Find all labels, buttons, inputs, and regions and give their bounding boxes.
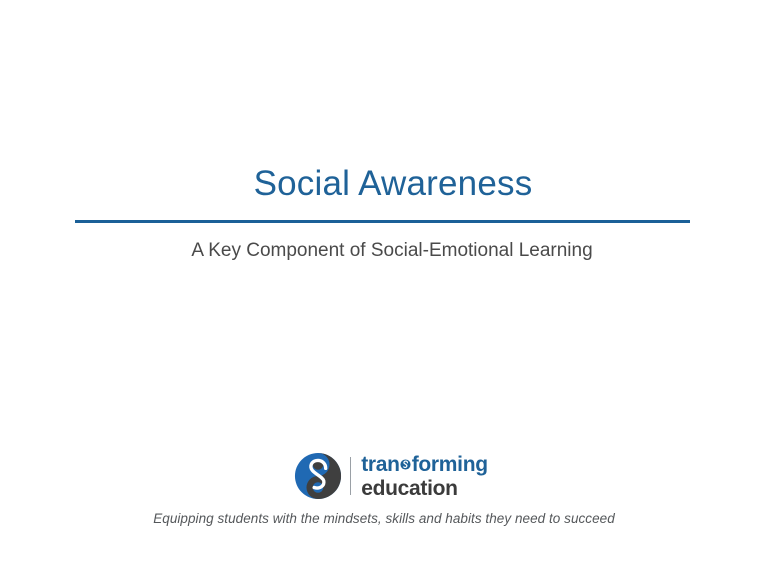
page-subtitle: A Key Component of Social-Emotional Lear… — [0, 238, 768, 264]
logo-stylized-s-icon — [400, 459, 411, 470]
title-block: Social Awareness — [0, 163, 768, 205]
logo-wordmark: tran forming education — [361, 454, 488, 499]
logo-block: tran forming education — [0, 452, 768, 500]
tagline-block: Equipping students with the mindsets, sk… — [0, 511, 768, 526]
title-divider-rule — [75, 220, 690, 223]
transforming-education-logo-icon — [294, 452, 342, 500]
logo-lockup: tran forming education — [280, 452, 488, 500]
logo-wordmark-prefix: tran — [361, 454, 399, 475]
logo-wordmark-suffix: forming — [412, 454, 488, 475]
logo-divider — [350, 457, 351, 495]
title-slide: Social Awareness A Key Component of Soci… — [0, 0, 768, 576]
page-title: Social Awareness — [0, 163, 768, 205]
organization-tagline: Equipping students with the mindsets, sk… — [0, 511, 768, 526]
subtitle-block: A Key Component of Social-Emotional Lear… — [0, 238, 768, 264]
logo-wordmark-line-transforming: tran forming — [361, 454, 488, 475]
logo-wordmark-line-education: education — [361, 478, 488, 499]
